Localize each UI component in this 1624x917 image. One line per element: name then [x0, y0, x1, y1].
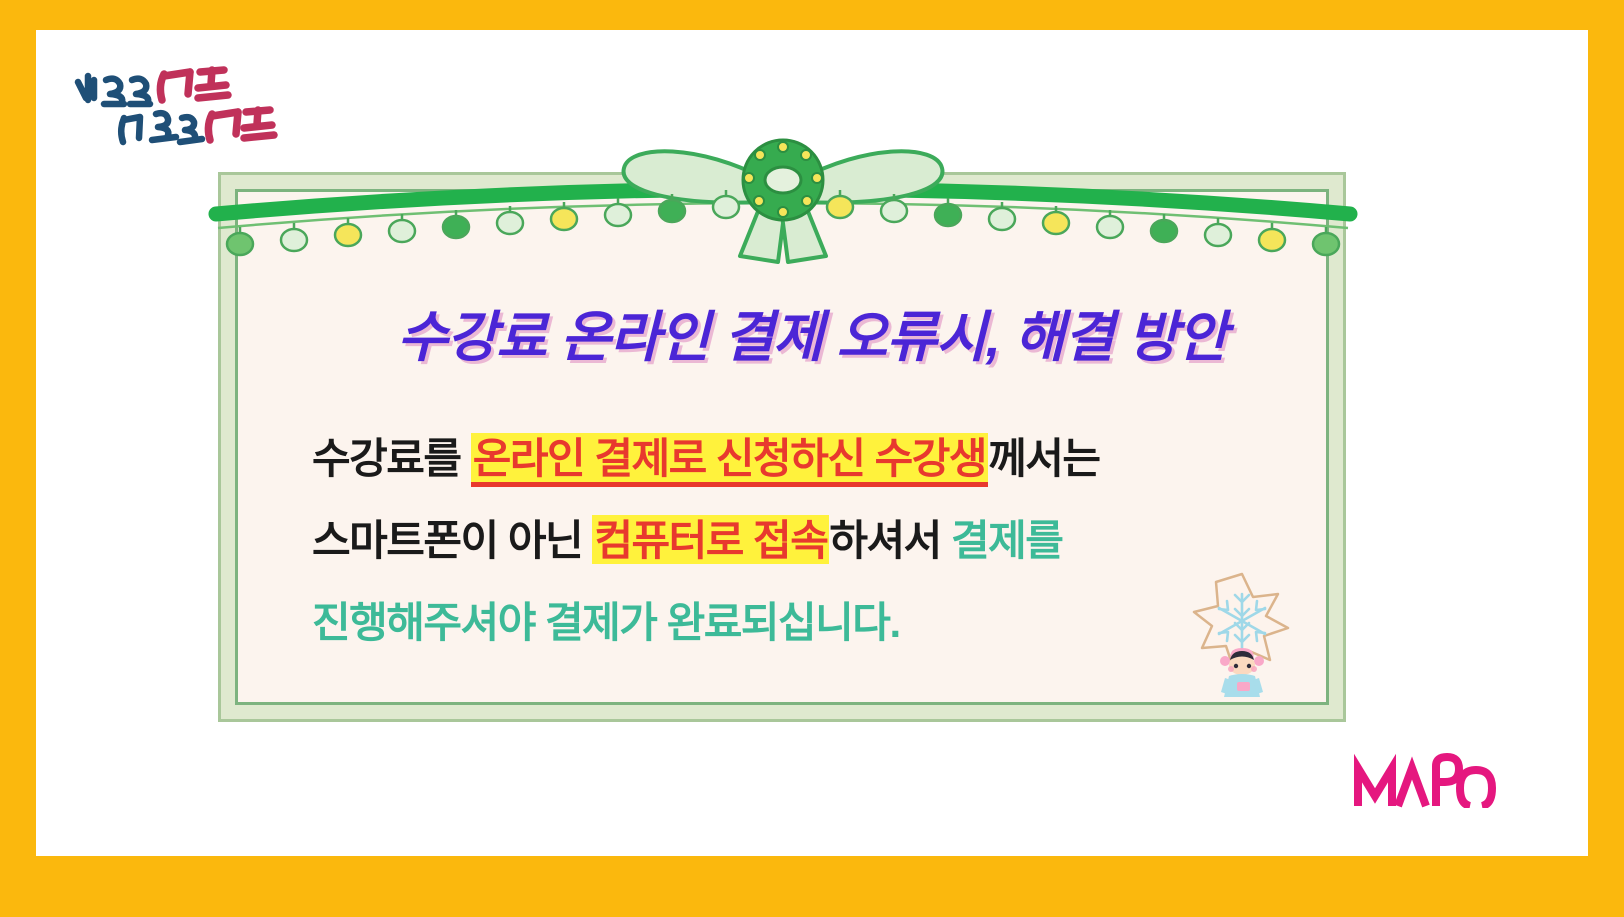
poster-title: 수강료 온라인 결제 오류시, 해결 방안: [0, 292, 1624, 372]
winter-character-mascot: [1192, 572, 1292, 697]
body-line-3-segment-1: 진행해주셔야 결제가 완료되십니다.: [312, 599, 900, 646]
body-line-2-segment-1: 스마트폰이 아닌: [312, 517, 592, 564]
body-line-2: 스마트폰이 아닌 컴퓨터로 접속하셔서 결제를: [312, 500, 1272, 582]
body-line-1-segment-3: 께서는: [988, 435, 1099, 482]
mapo-gu-slogan-logo: [72, 64, 282, 154]
mapo-wordmark: [1352, 752, 1508, 808]
poster-body: 수강료를 온라인 결제로 신청하신 수강생께서는 스마트폰이 아닌 컴퓨터로 접…: [312, 418, 1272, 664]
body-line-2-highlight: 컴퓨터로 접속: [592, 515, 829, 564]
body-line-1-highlight: 온라인 결제로 신청하신 수강생: [471, 433, 988, 487]
body-line-2-segment-3: 하셔서: [829, 517, 951, 564]
body-line-2-segment-4: 결제를: [951, 517, 1062, 564]
body-line-1-segment-1: 수강료를: [312, 435, 471, 482]
body-line-1: 수강료를 온라인 결제로 신청하신 수강생께서는: [312, 418, 1272, 500]
poster-root: 수강료 온라인 결제 오류시, 해결 방안 수강료를 온라인 결제로 신청하신 …: [0, 0, 1624, 917]
body-line-3: 진행해주셔야 결제가 완료되십니다.: [312, 582, 1272, 664]
